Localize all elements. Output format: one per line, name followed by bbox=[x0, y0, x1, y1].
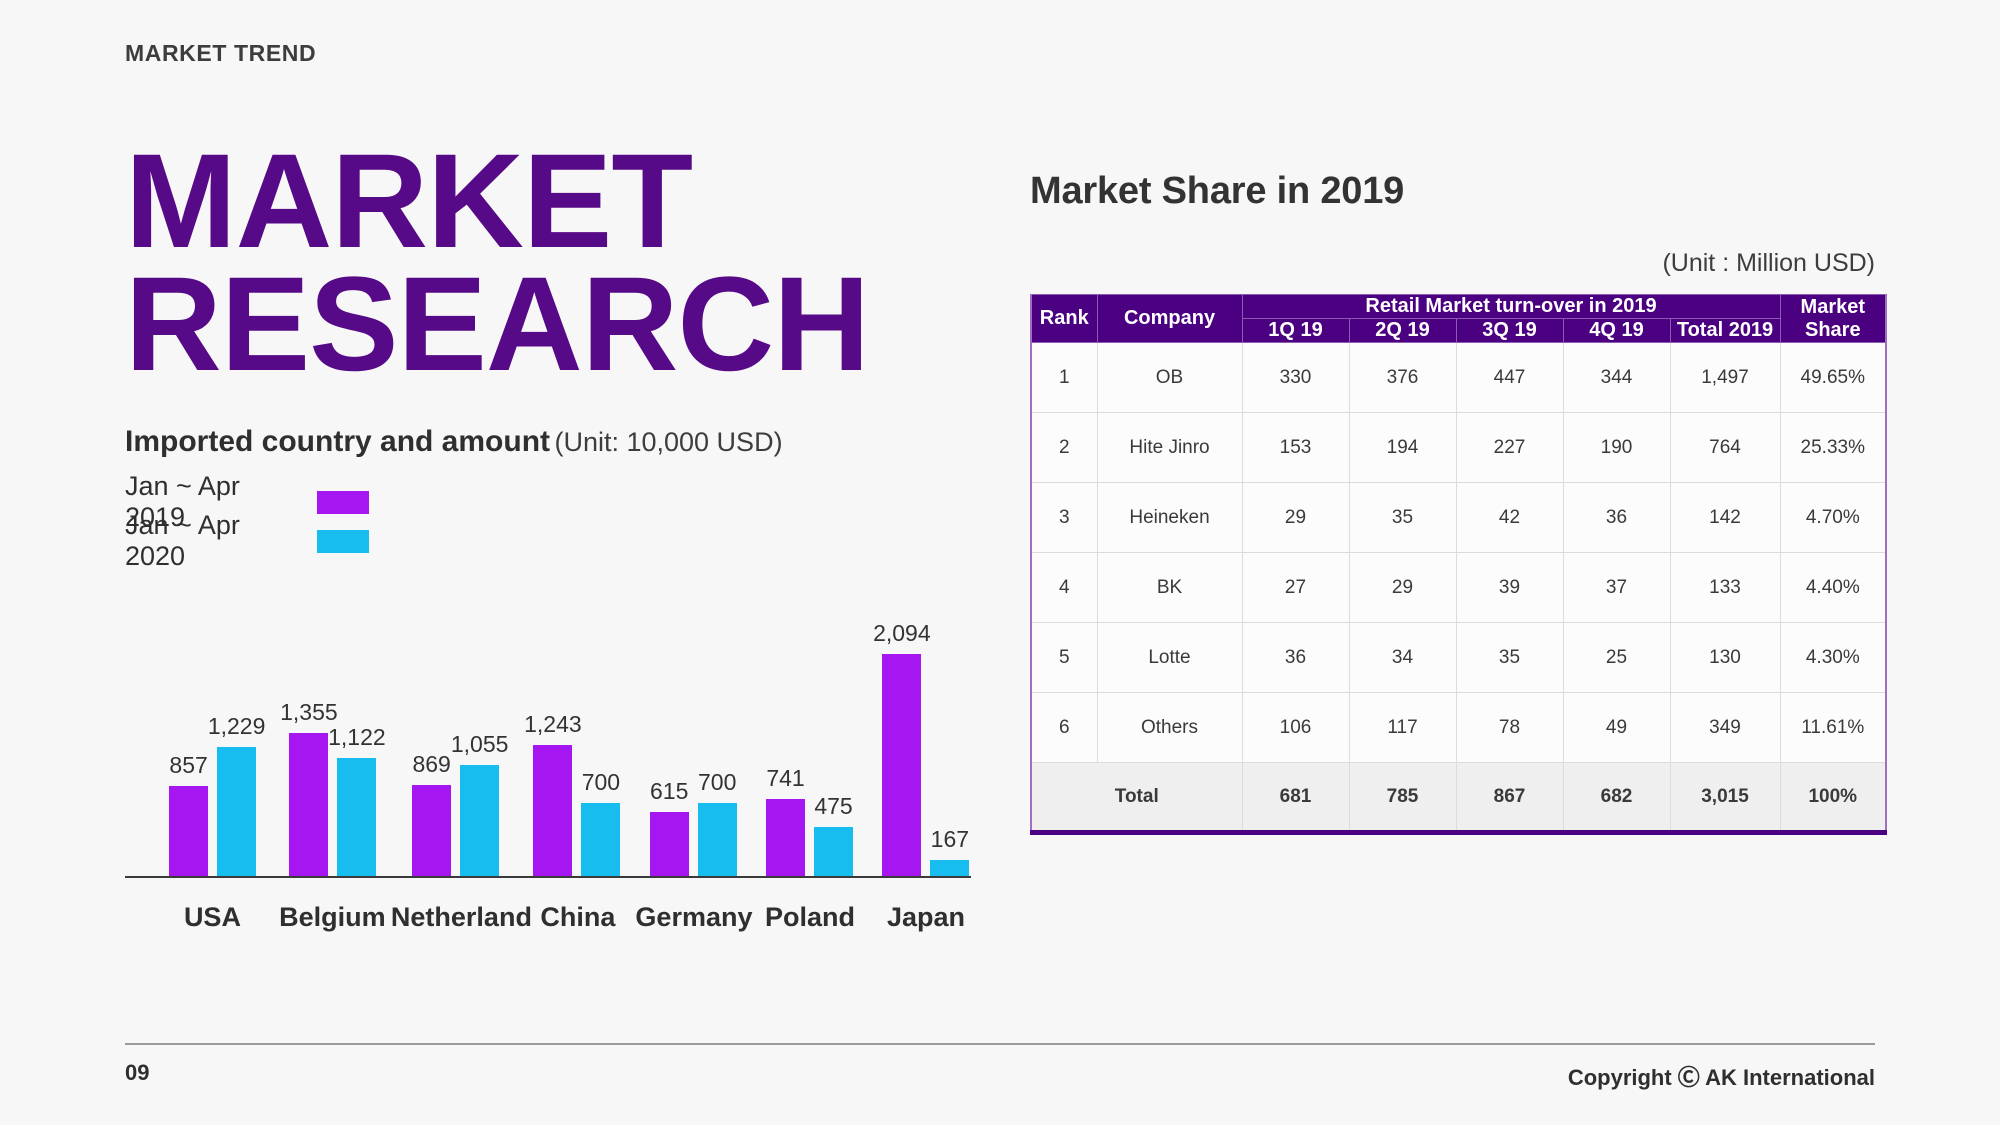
bar-value-china-2020: 700 bbox=[582, 769, 620, 796]
th-q2: 2Q 19 bbox=[1349, 319, 1456, 343]
market-share-table-head: Rank Company Retail Market turn-over in … bbox=[1031, 295, 1886, 343]
share-cell: 25.33% bbox=[1780, 413, 1886, 483]
bar-group-china: 1,243700 bbox=[520, 610, 634, 878]
q3-cell: 39 bbox=[1456, 553, 1563, 623]
total-row-label: Total bbox=[1031, 763, 1242, 833]
bar-value-china-2019: 1,243 bbox=[524, 711, 582, 738]
company-cell: Hite Jinro bbox=[1097, 413, 1242, 483]
q2-cell: 117 bbox=[1349, 693, 1456, 763]
bar-group-usa: 8571,229 bbox=[151, 610, 274, 878]
category-label-germany: Germany bbox=[635, 894, 753, 940]
category-label-japan: Japan bbox=[867, 894, 985, 940]
company-cell: Heineken bbox=[1097, 483, 1242, 553]
bar-chart-axis-line bbox=[125, 876, 971, 878]
bar-group-netherland: 8691,055 bbox=[392, 610, 520, 878]
q2-cell: 194 bbox=[1349, 413, 1456, 483]
bar-group-poland: 741475 bbox=[752, 610, 866, 878]
rank-cell: 4 bbox=[1031, 553, 1097, 623]
th-company: Company bbox=[1097, 295, 1242, 343]
bar-value-belgium-2019: 1,355 bbox=[280, 699, 338, 726]
right-column: Market Share in 2019 (Unit : Million USD… bbox=[1030, 170, 1875, 835]
rank-cell: 1 bbox=[1031, 343, 1097, 413]
bar-chart-category-labels: USABelgiumNetherlandChinaGermanyPolandJa… bbox=[125, 894, 985, 940]
chart-legend: Jan ~ Apr 2019 Jan ~ Apr 2020 bbox=[125, 483, 985, 561]
q3-cell: 35 bbox=[1456, 623, 1563, 693]
bar-wrap-belgium-2020: 1,122 bbox=[333, 610, 381, 878]
bar-value-belgium-2020: 1,122 bbox=[328, 724, 386, 751]
bar-chart-plot-area: 8571,2291,3551,1228691,0551,243700615700… bbox=[125, 610, 985, 878]
market-share-table-body: 1OB3303764473441,49749.65%2Hite Jinro153… bbox=[1031, 343, 1886, 833]
q3-cell: 42 bbox=[1456, 483, 1563, 553]
total-cell: 142 bbox=[1670, 483, 1780, 553]
bar-group-belgium: 1,3551,122 bbox=[274, 610, 391, 878]
th-market-share: Market Share bbox=[1780, 295, 1886, 343]
q1-cell: 330 bbox=[1242, 343, 1349, 413]
total-q1: 681 bbox=[1242, 763, 1349, 833]
category-label-belgium: Belgium bbox=[274, 894, 391, 940]
bar-wrap-germany-2020: 700 bbox=[693, 610, 741, 878]
legend-swatch-2019 bbox=[317, 491, 369, 514]
page-title-line-1: MARKET bbox=[125, 140, 985, 263]
rank-cell: 5 bbox=[1031, 623, 1097, 693]
th-market-share-line-1: Market bbox=[1801, 296, 1865, 318]
q3-cell: 227 bbox=[1456, 413, 1563, 483]
q4-cell: 36 bbox=[1563, 483, 1670, 553]
total-q3: 867 bbox=[1456, 763, 1563, 833]
market-share-unit: (Unit : Million USD) bbox=[1030, 249, 1875, 278]
bar-wrap-netherland-2019: 869 bbox=[408, 610, 456, 878]
table-row: 4BK272939371334.40% bbox=[1031, 553, 1886, 623]
th-total-2019: Total 2019 bbox=[1670, 319, 1780, 343]
category-label-usa: USA bbox=[151, 894, 274, 940]
bar-wrap-usa-2020: 1,229 bbox=[213, 610, 261, 878]
total-q2: 785 bbox=[1349, 763, 1456, 833]
table-total-row: Total6817858676823,015100% bbox=[1031, 763, 1886, 833]
slide-root: MARKET TREND MARKET RESEARCH Imported co… bbox=[0, 0, 2000, 1125]
share-cell: 49.65% bbox=[1780, 343, 1886, 413]
company-cell: Lotte bbox=[1097, 623, 1242, 693]
bar-germany-2020[interactable]: 700 bbox=[698, 803, 737, 878]
bar-wrap-usa-2019: 857 bbox=[165, 610, 213, 878]
q2-cell: 35 bbox=[1349, 483, 1456, 553]
share-cell: 11.61% bbox=[1780, 693, 1886, 763]
company-cell: Others bbox=[1097, 693, 1242, 763]
bar-chart: 8571,2291,3551,1228691,0551,243700615700… bbox=[125, 610, 985, 940]
bar-value-poland-2020: 475 bbox=[814, 793, 852, 820]
company-cell: BK bbox=[1097, 553, 1242, 623]
table-header-row-1: Rank Company Retail Market turn-over in … bbox=[1031, 295, 1886, 319]
bar-china-2020[interactable]: 700 bbox=[581, 803, 620, 878]
category-label-poland: Poland bbox=[753, 894, 867, 940]
q3-cell: 78 bbox=[1456, 693, 1563, 763]
q4-cell: 190 bbox=[1563, 413, 1670, 483]
bar-value-netherland-2020: 1,055 bbox=[451, 731, 509, 758]
q4-cell: 37 bbox=[1563, 553, 1670, 623]
th-group-turnover: Retail Market turn-over in 2019 bbox=[1242, 295, 1780, 319]
bar-wrap-japan-2019: 2,094 bbox=[878, 610, 926, 878]
th-q4: 4Q 19 bbox=[1563, 319, 1670, 343]
bar-group-japan: 2,094167 bbox=[867, 610, 985, 878]
table-row: 1OB3303764473441,49749.65% bbox=[1031, 343, 1886, 413]
bar-wrap-poland-2020: 475 bbox=[810, 610, 858, 878]
legend-item-2020: Jan ~ Apr 2020 bbox=[125, 522, 985, 561]
bar-value-netherland-2019: 869 bbox=[412, 751, 450, 778]
bar-value-japan-2020: 167 bbox=[931, 826, 969, 853]
total-cell: 349 bbox=[1670, 693, 1780, 763]
q1-cell: 106 bbox=[1242, 693, 1349, 763]
th-q3: 3Q 19 bbox=[1456, 319, 1563, 343]
page-title: MARKET RESEARCH bbox=[125, 140, 985, 387]
total-q4: 682 bbox=[1563, 763, 1670, 833]
table-row: 6Others106117784934911.61% bbox=[1031, 693, 1886, 763]
total-share: 100% bbox=[1780, 763, 1886, 833]
th-q1: 1Q 19 bbox=[1242, 319, 1349, 343]
share-cell: 4.70% bbox=[1780, 483, 1886, 553]
total-cell: 130 bbox=[1670, 623, 1780, 693]
q4-cell: 25 bbox=[1563, 623, 1670, 693]
bar-poland-2020[interactable]: 475 bbox=[814, 827, 853, 878]
table-row: 3Heineken293542361424.70% bbox=[1031, 483, 1886, 553]
bar-group-germany: 615700 bbox=[634, 610, 752, 878]
bar-belgium-2019[interactable]: 1,355 bbox=[289, 733, 328, 878]
bar-netherland-2019[interactable]: 869 bbox=[412, 785, 451, 878]
bar-value-usa-2020: 1,229 bbox=[208, 713, 266, 740]
q1-cell: 29 bbox=[1242, 483, 1349, 553]
q2-cell: 34 bbox=[1349, 623, 1456, 693]
bar-wrap-china-2020: 700 bbox=[577, 610, 625, 878]
left-column: MARKET RESEARCH Imported country and amo… bbox=[125, 140, 985, 561]
q1-cell: 36 bbox=[1242, 623, 1349, 693]
total-sum: 3,015 bbox=[1670, 763, 1780, 833]
bar-value-poland-2019: 741 bbox=[766, 765, 804, 792]
total-cell: 1,497 bbox=[1670, 343, 1780, 413]
rank-cell: 6 bbox=[1031, 693, 1097, 763]
th-rank: Rank bbox=[1031, 295, 1097, 343]
bar-usa-2019[interactable]: 857 bbox=[169, 786, 208, 878]
legend-swatch-2020 bbox=[317, 530, 369, 553]
market-share-table: Rank Company Retail Market turn-over in … bbox=[1030, 294, 1887, 835]
eyebrow-label: MARKET TREND bbox=[125, 40, 316, 67]
q4-cell: 344 bbox=[1563, 343, 1670, 413]
bar-value-usa-2019: 857 bbox=[169, 752, 207, 779]
rank-cell: 3 bbox=[1031, 483, 1097, 553]
q1-cell: 27 bbox=[1242, 553, 1349, 623]
market-share-title: Market Share in 2019 bbox=[1030, 170, 1875, 213]
bar-poland-2019[interactable]: 741 bbox=[766, 799, 805, 878]
bar-chart-heading-text: Imported country and amount bbox=[125, 425, 550, 458]
q3-cell: 447 bbox=[1456, 343, 1563, 413]
bar-wrap-netherland-2020: 1,055 bbox=[456, 610, 504, 878]
table-row: 5Lotte363435251304.30% bbox=[1031, 623, 1886, 693]
share-cell: 4.40% bbox=[1780, 553, 1886, 623]
q2-cell: 376 bbox=[1349, 343, 1456, 413]
bar-japan-2019[interactable]: 2,094 bbox=[882, 654, 921, 878]
bar-usa-2020[interactable]: 1,229 bbox=[217, 747, 256, 878]
bar-chart-heading: Imported country and amount (Unit: 10,00… bbox=[125, 425, 985, 459]
th-market-share-line-2: Share bbox=[1805, 319, 1861, 341]
page-number: 09 bbox=[125, 1060, 149, 1086]
bar-wrap-japan-2020: 167 bbox=[926, 610, 974, 878]
category-label-netherland: Netherland bbox=[391, 894, 521, 940]
rank-cell: 2 bbox=[1031, 413, 1097, 483]
bar-value-germany-2019: 615 bbox=[650, 778, 688, 805]
bar-netherland-2020[interactable]: 1,055 bbox=[460, 765, 499, 878]
bar-wrap-poland-2019: 741 bbox=[762, 610, 810, 878]
bar-belgium-2020[interactable]: 1,122 bbox=[337, 758, 376, 878]
legend-label-2020: Jan ~ Apr 2020 bbox=[125, 510, 305, 572]
q1-cell: 153 bbox=[1242, 413, 1349, 483]
q2-cell: 29 bbox=[1349, 553, 1456, 623]
page-title-line-2: RESEARCH bbox=[125, 263, 985, 386]
bar-value-japan-2019: 2,094 bbox=[873, 620, 931, 647]
bar-china-2019[interactable]: 1,243 bbox=[533, 745, 572, 878]
bar-chart-unit-text: (Unit: 10,000 USD) bbox=[554, 427, 782, 457]
bar-wrap-belgium-2019: 1,355 bbox=[285, 610, 333, 878]
footer-divider bbox=[125, 1043, 1875, 1045]
copyright-label: Copyright Ⓒ AK International bbox=[1568, 1060, 1875, 1092]
company-cell: OB bbox=[1097, 343, 1242, 413]
q4-cell: 49 bbox=[1563, 693, 1670, 763]
share-cell: 4.30% bbox=[1780, 623, 1886, 693]
total-cell: 133 bbox=[1670, 553, 1780, 623]
bar-wrap-china-2019: 1,243 bbox=[529, 610, 577, 878]
total-cell: 764 bbox=[1670, 413, 1780, 483]
bar-value-germany-2020: 700 bbox=[698, 769, 736, 796]
bar-germany-2019[interactable]: 615 bbox=[650, 812, 689, 878]
bar-wrap-germany-2019: 615 bbox=[645, 610, 693, 878]
table-row: 2Hite Jinro15319422719076425.33% bbox=[1031, 413, 1886, 483]
category-label-china: China bbox=[521, 894, 635, 940]
